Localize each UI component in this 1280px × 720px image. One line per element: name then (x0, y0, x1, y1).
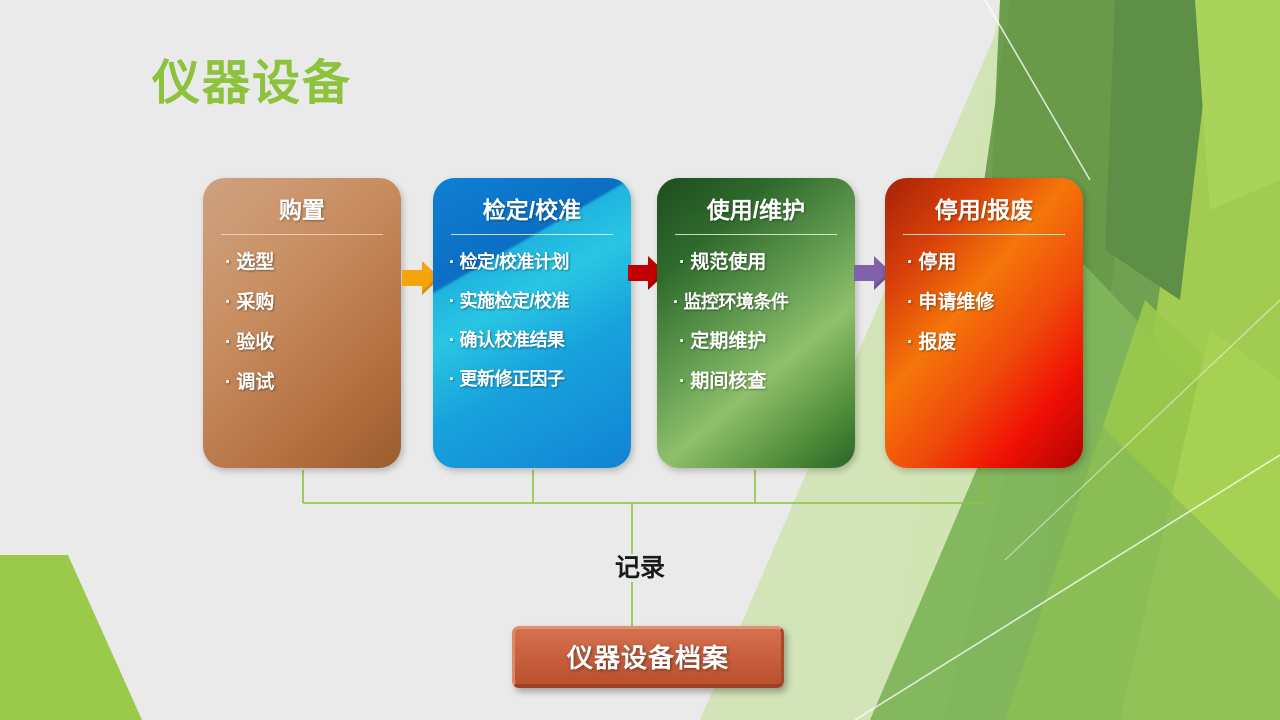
list-item-label: 定期维护 (690, 331, 766, 352)
list-item-label: 调试 (236, 372, 274, 393)
page-title: 仪器设备 (152, 55, 352, 113)
bullet-icon: · (225, 252, 231, 273)
bullet-icon: · (673, 292, 679, 312)
list-item[interactable]: ·采购 (213, 293, 391, 312)
stage-title: 购置 (213, 196, 391, 225)
bullet-icon: · (679, 331, 685, 352)
list-item[interactable]: ·监控环境条件 (667, 293, 845, 311)
stage-item-list: ·选型 ·采购 ·验收 ·调试 (213, 235, 391, 458)
list-item[interactable]: ·确认校准结果 (443, 331, 621, 349)
equipment-archive-button-label: 仪器设备档案 (567, 638, 729, 675)
list-item[interactable]: ·定期维护 (667, 332, 845, 351)
list-item-label: 报废 (918, 332, 956, 353)
list-item-label: 监控环境条件 (684, 292, 789, 312)
list-item-label: 更新修正因子 (460, 369, 565, 389)
list-item-label: 实施检定/校准 (460, 291, 570, 311)
list-item[interactable]: ·检定/校准计划 (443, 253, 621, 271)
list-item[interactable]: ·验收 (213, 333, 391, 352)
bullet-icon: · (449, 291, 455, 311)
equipment-archive-button[interactable]: 仪器设备档案 (512, 626, 784, 688)
list-item-label: 验收 (236, 332, 274, 353)
list-item-label: 确认校准结果 (460, 330, 565, 350)
list-item[interactable]: ·实施检定/校准 (443, 292, 621, 310)
bullet-icon: · (679, 371, 685, 392)
list-item-label: 期间核查 (690, 371, 766, 392)
stage-title: 使用/维护 (667, 196, 845, 225)
list-item[interactable]: ·停用 (895, 253, 1073, 272)
slide-canvas: 仪器设备 购置 ·选型 ·采购 ·验收 ·调试 检定/校准 ·检定/校准计划 (0, 0, 1280, 720)
stage-card-retire-scrap[interactable]: 停用/报废 ·停用 ·申请维修 ·报废 (885, 178, 1083, 468)
bullet-icon: · (225, 372, 231, 393)
record-label: 记录 (0, 548, 1280, 584)
list-item[interactable]: ·报废 (895, 333, 1073, 352)
list-item-label: 申请维修 (918, 292, 994, 313)
list-item[interactable]: ·规范使用 (667, 253, 845, 272)
list-item[interactable]: ·期间核查 (667, 372, 845, 391)
list-item[interactable]: ·调试 (213, 373, 391, 392)
bullet-icon: · (449, 369, 455, 389)
bullet-icon: · (225, 292, 231, 313)
bullet-icon: · (907, 292, 913, 313)
list-item[interactable]: ·申请维修 (895, 293, 1073, 312)
record-label-text: 记录 (601, 554, 679, 582)
stage-item-list: ·检定/校准计划 ·实施检定/校准 ·确认校准结果 ·更新修正因子 (443, 235, 621, 458)
bullet-icon: · (449, 330, 455, 350)
bullet-icon: · (907, 252, 913, 273)
bullet-icon: · (907, 332, 913, 353)
list-item-label: 选型 (236, 252, 274, 273)
list-item-label: 检定/校准计划 (460, 252, 570, 272)
list-item[interactable]: ·更新修正因子 (443, 370, 621, 388)
list-item-label: 规范使用 (690, 252, 766, 273)
list-item-label: 停用 (918, 252, 956, 273)
stage-item-list: ·规范使用 ·监控环境条件 ·定期维护 ·期间核查 (667, 235, 845, 458)
stage-item-list: ·停用 ·申请维修 ·报废 (895, 235, 1073, 458)
stage-title: 检定/校准 (443, 196, 621, 225)
bullet-icon: · (679, 252, 685, 273)
list-item[interactable]: ·选型 (213, 253, 391, 272)
bullet-icon: · (449, 252, 455, 272)
stage-title: 停用/报废 (895, 196, 1073, 225)
bullet-icon: · (225, 332, 231, 353)
list-item-label: 采购 (236, 292, 274, 313)
stage-card-calibration[interactable]: 检定/校准 ·检定/校准计划 ·实施检定/校准 ·确认校准结果 ·更新修正因子 (433, 178, 631, 468)
stage-card-use-maintenance[interactable]: 使用/维护 ·规范使用 ·监控环境条件 ·定期维护 ·期间核查 (657, 178, 855, 468)
stage-card-purchase[interactable]: 购置 ·选型 ·采购 ·验收 ·调试 (203, 178, 401, 468)
